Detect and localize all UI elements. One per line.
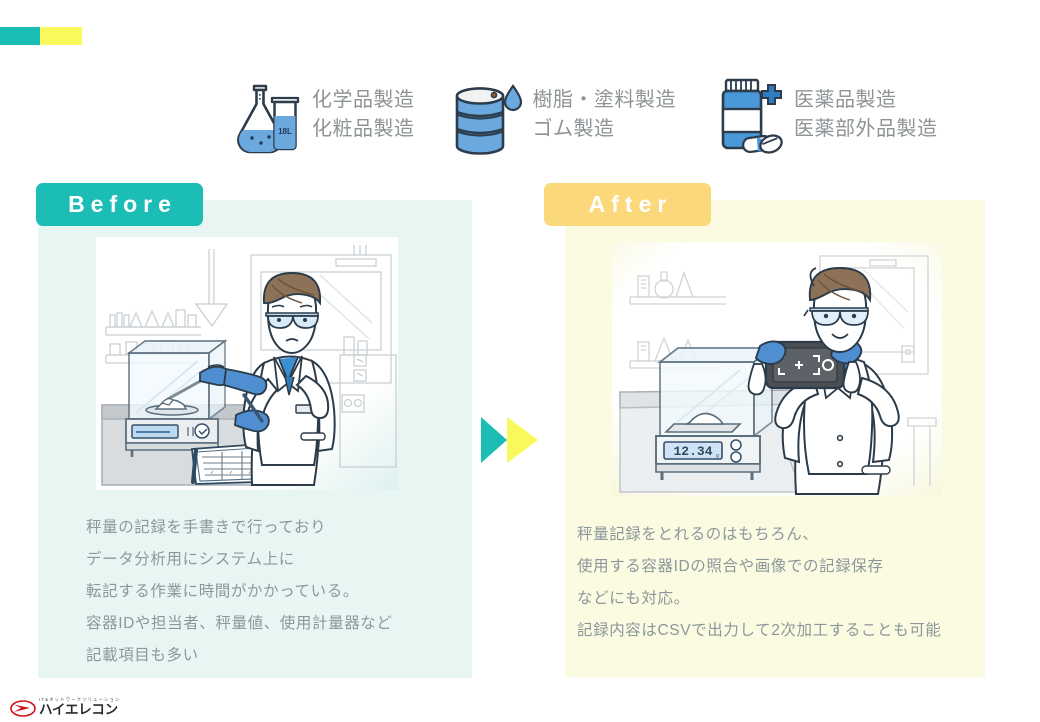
industry-label-line: ゴム製造 (533, 115, 677, 144)
teal-bar (0, 27, 40, 45)
after-copy-line: 秤量記録をとれるのはもちろん、 (577, 519, 977, 551)
industry-label-line: 医薬部外品製造 (794, 115, 938, 144)
lab-technician-handwriting-record-illustration: ✓✓✓ (96, 237, 398, 490)
before-copy-line: データ分析用にシステム上に (86, 544, 446, 576)
industry-label-line: 医薬品製造 (794, 86, 938, 115)
lab-technician-smartphone-capture-illustration: 12.34 g (612, 242, 942, 496)
industry-item-pharmaceutical: 医薬品製造 医薬部外品製造 (710, 72, 938, 158)
footer-logo: IT&ネットワークソリューション ハイエレコン (10, 698, 120, 717)
industry-item-chemical: 18L 化学品製造 化粧品製造 (228, 72, 415, 158)
before-copy-line: 転記する作業に時間がかかっている。 (86, 576, 446, 608)
before-copy-line: 容器IDや担当者、秤量値、使用計量器など (86, 608, 446, 640)
before-copy-line: 記載項目も多い (86, 640, 446, 672)
before-badge: Before (36, 183, 203, 226)
industry-label-chemical: 化学品製造 化粧品製造 (312, 86, 415, 144)
svg-text:18L: 18L (278, 127, 292, 136)
industry-label-line: 樹脂・塗料製造 (533, 86, 677, 115)
after-copy-line: 記録内容はCSVで出力して2次加工することも可能 (577, 615, 977, 647)
logo-text: IT&ネットワークソリューション ハイエレコン (39, 698, 120, 717)
balance-display-value: 12.34 (673, 444, 712, 459)
before-description: 秤量の記録を手書きで行っており データ分析用にシステム上に 転記する作業に時間が… (86, 512, 446, 672)
svg-text:✓: ✓ (229, 470, 233, 476)
logo-name: ハイエレコン (39, 703, 120, 717)
arrow-yellow-icon (507, 417, 538, 463)
industry-label-resin-paint: 樹脂・塗料製造 ゴム製造 (533, 86, 677, 144)
industry-row: 18L 化学品製造 化粧品製造 樹脂・塗料製造 ゴム製造 (228, 72, 938, 158)
after-badge: After (544, 183, 711, 226)
logo-arrow-mark-icon (10, 700, 36, 717)
before-copy-line: 秤量の記録を手書きで行っており (86, 512, 446, 544)
transition-arrow (481, 417, 538, 463)
after-copy-line: 使用する容器IDの照合や画像での記録保存 (577, 551, 977, 583)
industry-label-line: 化粧品製造 (312, 115, 415, 144)
yellow-bar (40, 27, 82, 45)
flask-beaker-icon: 18L (228, 72, 302, 158)
after-description: 秤量記録をとれるのはもちろん、 使用する容器IDの照合や画像での記録保存 などに… (577, 519, 977, 647)
industry-label-line: 化学品製造 (312, 86, 415, 115)
svg-text:g: g (716, 453, 719, 459)
decorative-bars (0, 27, 82, 45)
svg-text:✓: ✓ (210, 470, 214, 476)
industry-item-resin-paint: 樹脂・塗料製造 ゴム製造 (449, 72, 677, 158)
arrow-teal-icon (481, 417, 507, 463)
medicine-bottle-pills-icon (710, 72, 784, 158)
after-copy-line: などにも対応。 (577, 583, 977, 615)
industry-label-pharmaceutical: 医薬品製造 医薬部外品製造 (794, 86, 938, 144)
oil-drum-droplet-icon (449, 72, 523, 158)
